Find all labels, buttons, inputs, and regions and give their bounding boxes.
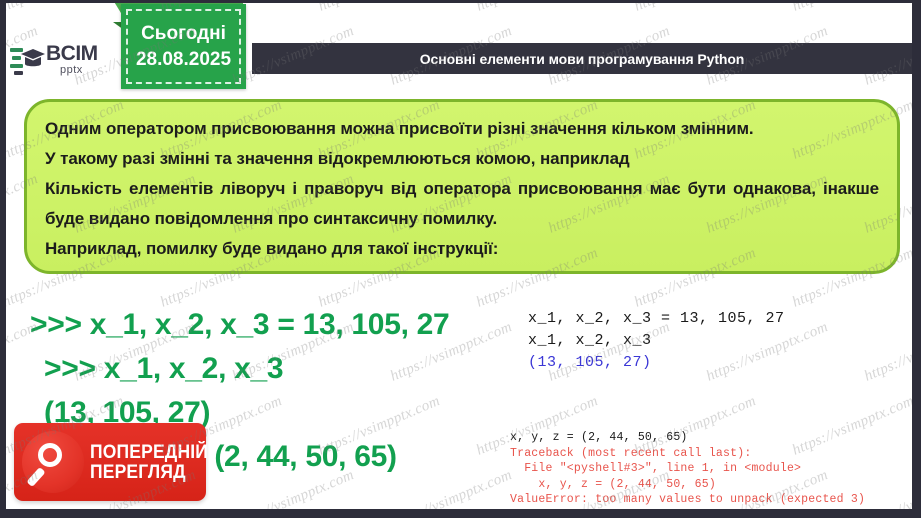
watermark-text: https://vsimpptx.com xyxy=(632,0,759,16)
brand-suffix: pptx xyxy=(60,65,98,76)
shell-example-code-2: x_1, x_2, x_3 xyxy=(528,330,913,352)
callout-paragraph-1: Одним оператором присвоювання можна прис… xyxy=(45,114,879,144)
callout-paragraph-2: У такому разі змінні та значення відокре… xyxy=(45,144,879,174)
date-badge-label: Сьогодні xyxy=(141,23,226,45)
console-line-2: >>> x_1, x_2, x_3 xyxy=(30,347,530,391)
preview-badge-line-1: ПОПЕРЕДНІЙ xyxy=(90,443,208,463)
cap-glyph xyxy=(20,46,46,72)
shell-error-input: x, y, z = (2, 44, 50, 65) xyxy=(510,430,915,446)
shell-example-code-1: x_1, x_2, x_3 = 13, 105, 27 xyxy=(528,308,913,330)
slide-canvas: BCIM pptx Сьогодні 28.08.2025 Основні ел… xyxy=(0,0,921,518)
watermark-text: https://vsimpptx.com xyxy=(790,0,917,16)
page-title: Основні елементи мови програмування Pyth… xyxy=(420,51,745,67)
magnifier-icon xyxy=(22,431,84,493)
content-callout: Одним оператором присвоювання можна прис… xyxy=(24,99,900,274)
brand-name: BCIM xyxy=(46,43,98,64)
traceback-line-1: Traceback (most recent call last): xyxy=(510,446,915,462)
preview-badge-line-2: ПЕРЕГЛЯД xyxy=(90,463,208,483)
watermark-text: https://vsimpptx.com xyxy=(0,0,127,16)
shell-example-block: x_1, x_2, x_3 = 13, 105, 27 x_1, x_2, x_… xyxy=(528,308,913,374)
callout-paragraph-3: Кількість елементів ліворуч і праворуч в… xyxy=(45,174,879,234)
watermark-text: https://vsimpptx.com xyxy=(474,0,601,16)
date-badge: Сьогодні 28.08.2025 xyxy=(121,4,246,89)
traceback-line-4: ValueError: too many values to unpack (e… xyxy=(510,492,915,508)
shell-example-output: (13, 105, 27) xyxy=(528,352,913,374)
slide-title-bar: Основні елементи мови програмування Pyth… xyxy=(252,43,912,74)
watermark-text: https://vsimpptx.com xyxy=(316,0,443,16)
graduation-cap-icon xyxy=(10,44,42,74)
shell-error-block: x, y, z = (2, 44, 50, 65) Traceback (mos… xyxy=(510,430,915,508)
frame-bottom xyxy=(0,509,921,518)
traceback-line-3: x, y, z = (2, 44, 50, 65) xyxy=(510,477,915,493)
console-line-1: >>> x_1, x_2, x_3 = 13, 105, 27 xyxy=(30,303,530,347)
traceback-line-2: File "<pyshell#3>", line 1, in <module> xyxy=(510,461,915,477)
brand-logo: BCIM pptx xyxy=(10,36,130,82)
preview-badge[interactable]: ПОПЕРЕДНІЙ ПЕРЕГЛЯД xyxy=(14,423,206,501)
date-badge-value: 28.08.2025 xyxy=(136,49,231,71)
callout-paragraph-4: Наприклад, помилку буде видано для такої… xyxy=(45,234,879,264)
